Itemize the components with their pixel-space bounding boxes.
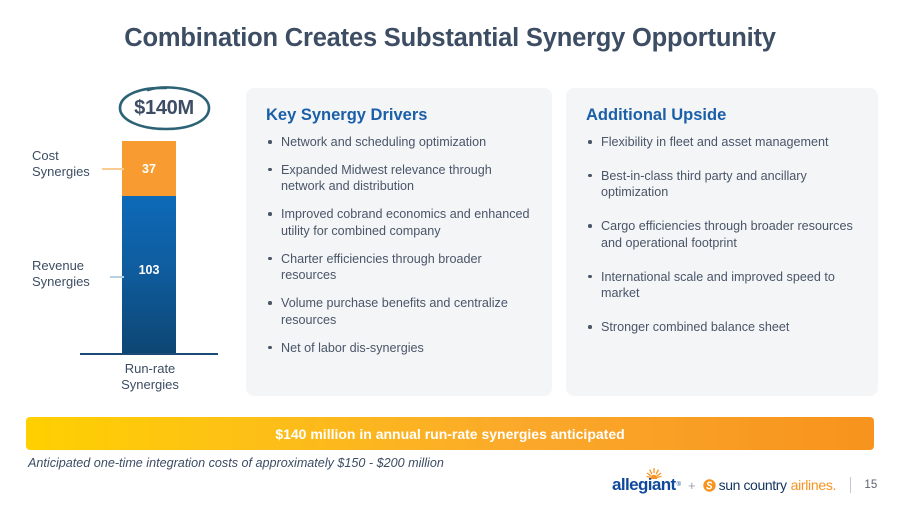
allegiant-wordmark: allegiant [612,475,676,495]
list-item: Charter efficiencies through broader res… [266,251,532,284]
page-number-divider [850,477,851,493]
panel-heading-key-synergy-drivers: Key Synergy Drivers [266,106,532,125]
allegiant-logo: allegiant ® [612,475,681,495]
panel-additional-upside: Additional Upside Flexibility in fleet a… [566,88,878,396]
suncountry-airlines-word: airlines [791,477,833,493]
bullet-list-additional-upside: Flexibility in fleet and asset managemen… [586,134,858,336]
allegiant-trademark: ® [677,482,681,488]
summary-banner-text: $140 million in annual run-rate synergie… [275,426,624,442]
bar-segment-revenue: 103 [122,196,176,353]
list-item: Improved cobrand economics and enhanced … [266,206,532,239]
cost-synergies-connector [102,168,124,170]
suncountry-wordmark: sun country [719,477,787,493]
footnote: Anticipated one-time integration costs o… [28,456,444,470]
list-item: Volume purchase benefits and centralize … [266,295,532,328]
list-item: Stronger combined balance sheet [586,319,858,336]
chart-baseline [80,353,218,355]
list-item: Best-in-class third party and ancillary … [586,168,858,201]
revenue-synergies-label-line2: Synergies [32,274,112,290]
stacked-bar: 37 103 [122,141,176,353]
list-item: Cargo efficiencies through broader resou… [586,218,858,251]
bar-segment-cost: 37 [122,141,176,196]
panel-heading-additional-upside: Additional Upside [586,106,858,125]
revenue-synergies-label-line1: Revenue [32,258,112,274]
suncountry-logo-dot: . [833,477,837,493]
bullet-list-key-synergy-drivers: Network and scheduling optimization Expa… [266,134,532,356]
chart-category-label-line1: Run-rate [90,361,210,377]
list-item: International scale and improved speed t… [586,269,858,302]
sun-icon [703,479,716,492]
total-callout: $140M [114,83,214,133]
page-title: Combination Creates Substantial Synergy … [0,24,900,53]
bar-segment-cost-value: 37 [142,162,156,176]
list-item: Flexibility in fleet and asset managemen… [586,134,858,151]
cost-synergies-label-line1: Cost [32,148,104,164]
synergy-chart: $140M 37 103 Run-rate Synergies Cost Syn… [22,78,237,398]
chart-category-label-line2: Synergies [90,377,210,393]
panel-key-synergy-drivers: Key Synergy Drivers Network and scheduli… [246,88,552,396]
list-item: Network and scheduling optimization [266,134,532,151]
footer-logos: allegiant ® + sun country airlines . 15 [612,470,882,500]
list-item: Net of labor dis-synergies [266,340,532,357]
suncountry-logo: sun country airlines . [703,477,837,493]
cost-synergies-label: Cost Synergies [32,148,104,181]
list-item: Expanded Midwest relevance through netwo… [266,162,532,195]
slide: Combination Creates Substantial Synergy … [0,0,900,506]
bar-segment-revenue-value: 103 [139,263,160,277]
page-number: 15 [864,479,877,491]
plus-symbol: + [688,478,696,493]
sunburst-icon [645,468,663,479]
total-callout-value: $140M [114,83,214,133]
revenue-synergies-connector [110,276,124,278]
revenue-synergies-label: Revenue Synergies [32,258,112,291]
summary-banner: $140 million in annual run-rate synergie… [26,417,874,450]
cost-synergies-label-line2: Synergies [32,164,104,180]
chart-category-label: Run-rate Synergies [90,361,210,394]
